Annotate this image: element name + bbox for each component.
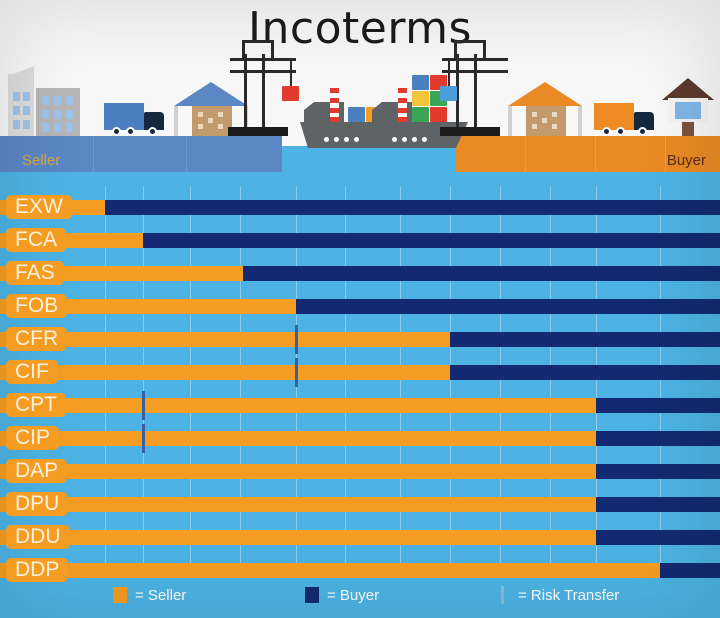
buyer-segment (596, 464, 720, 479)
legend-label-seller: = Seller (135, 587, 186, 604)
buyer-swatch-icon (305, 587, 319, 603)
crane-icon (434, 40, 514, 136)
chart-legend: = Seller = Buyer = Risk Transfer (0, 582, 720, 618)
term-label-cfr[interactable]: CFR (6, 327, 67, 351)
buyer-segment (450, 365, 720, 380)
seller-segment (0, 365, 450, 380)
chart-row[interactable] (0, 497, 720, 512)
term-label-dpu[interactable]: DPU (6, 492, 68, 516)
office-building-icon (36, 88, 80, 136)
risk-transfer-marker (295, 325, 298, 354)
chart-row[interactable] (0, 530, 720, 545)
house-icon (662, 78, 714, 136)
chart-row[interactable] (0, 365, 720, 380)
term-label-ddp[interactable]: DDP (6, 558, 68, 582)
term-label-ddu[interactable]: DDU (6, 525, 70, 549)
chart-row[interactable] (0, 233, 720, 248)
seller-label: Seller (22, 152, 60, 169)
risk-transfer-marker-icon (501, 586, 504, 604)
term-label-cip[interactable]: CIP (6, 426, 59, 450)
seller-swatch-icon (113, 587, 127, 603)
chart-row[interactable] (0, 431, 720, 446)
incoterms-chart: EXWFCAFASFOBCFRCIFCPTCIPDAPDPUDDUDDP = S… (0, 186, 720, 618)
buyer-label: Buyer (667, 152, 706, 169)
buyer-segment (596, 398, 720, 413)
risk-transfer-marker (142, 391, 145, 420)
term-label-exw[interactable]: EXW (6, 195, 72, 219)
seller-segment (0, 563, 660, 578)
crane-icon (222, 40, 302, 136)
logistics-scene: Incoterms Seller Buyer (0, 0, 720, 186)
seller-segment (0, 431, 596, 446)
chart-row[interactable] (0, 398, 720, 413)
buyer-segment (660, 563, 720, 578)
buyer-segment (596, 530, 720, 545)
term-label-dap[interactable]: DAP (6, 459, 67, 483)
legend-item-seller: = Seller (113, 582, 186, 608)
factory-icon (8, 74, 34, 136)
seller-segment (0, 398, 596, 413)
term-label-fas[interactable]: FAS (6, 261, 64, 285)
buyer-segment (596, 497, 720, 512)
legend-label-risk: = Risk Transfer (518, 587, 619, 604)
buyer-segment (450, 332, 720, 347)
chart-row[interactable] (0, 200, 720, 215)
term-label-cpt[interactable]: CPT (6, 393, 66, 417)
buyer-segment (296, 299, 720, 314)
buyer-segment (243, 266, 720, 281)
term-label-cif[interactable]: CIF (6, 360, 58, 384)
page-title: Incoterms (0, 4, 720, 54)
buyer-segment (105, 200, 720, 215)
warehouse-icon (508, 82, 582, 136)
legend-item-buyer: = Buyer (305, 582, 379, 608)
term-label-fob[interactable]: FOB (6, 294, 67, 318)
term-label-fca[interactable]: FCA (6, 228, 66, 252)
seller-segment (0, 497, 596, 512)
buyer-segment (596, 431, 720, 446)
risk-transfer-marker (142, 424, 145, 453)
seller-segment (0, 530, 596, 545)
chart-row[interactable] (0, 563, 720, 578)
risk-transfer-marker (295, 358, 298, 387)
chart-row[interactable] (0, 332, 720, 347)
chart-row[interactable] (0, 266, 720, 281)
seller-segment (0, 332, 450, 347)
buyer-segment (143, 233, 720, 248)
chart-row[interactable] (0, 299, 720, 314)
incoterms-infographic: Incoterms Seller Buyer (0, 0, 720, 618)
chart-row[interactable] (0, 464, 720, 479)
legend-label-buyer: = Buyer (327, 587, 379, 604)
seller-segment (0, 464, 596, 479)
legend-item-risk: = Risk Transfer (495, 582, 619, 608)
